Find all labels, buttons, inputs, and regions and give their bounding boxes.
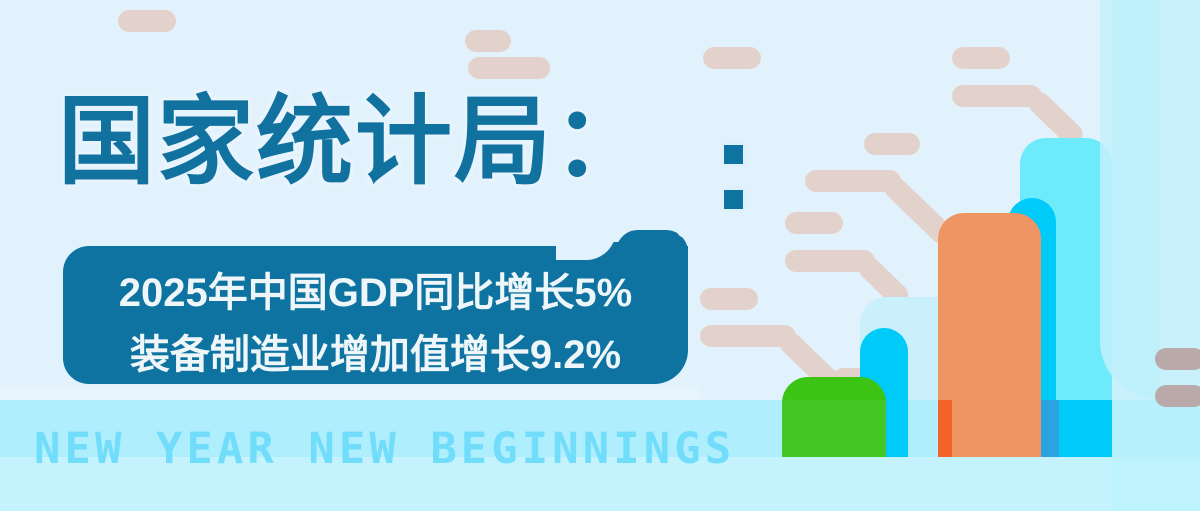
callout-line-2: 装备制造业增加值增长9.2%: [63, 318, 688, 380]
dash-tick-taupe: [1155, 348, 1200, 370]
colon-square-top-icon: [724, 145, 743, 164]
dash-tick-taupe: [1155, 385, 1200, 407]
page-title: 国家统计局：: [58, 92, 652, 193]
callout-notch-cut-right: [676, 212, 690, 238]
callout-box: 2025年中国GDP同比增长5% 装备制造业增加值增长9.2%: [63, 246, 688, 384]
subbox-underline: [0, 386, 700, 400]
colon-square-bottom-icon: [724, 190, 743, 209]
tagline-text: NEW YEAR NEW BEGINNINGS: [34, 424, 735, 474]
callout-line-1: 2025年中国GDP同比增长5%: [63, 246, 688, 318]
banner-root: 国家统计局： 2025年中国GDP同比增长5% 装备制造业增加值增长9.2% N…: [0, 0, 1200, 511]
